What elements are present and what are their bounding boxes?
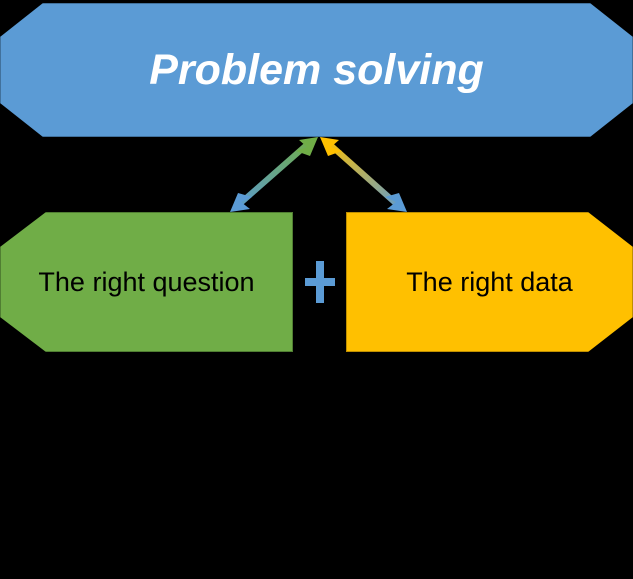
node-right-question[interactable]: The right question [0, 212, 293, 352]
right-connector-head-top [320, 137, 342, 156]
right-connector [320, 137, 407, 212]
left-connector [230, 137, 318, 212]
node-problem-solving-label: Problem solving [149, 49, 484, 92]
right-connector-head-bottom [385, 193, 407, 212]
plus-operator [293, 212, 346, 352]
node-right-data-label: The right data [406, 269, 573, 296]
plus-icon [305, 261, 335, 303]
node-right-question-label: The right question [38, 269, 254, 296]
left-connector-head-top [296, 137, 318, 156]
diagram-canvas: Problem solving [0, 0, 633, 579]
left-connector-head-bottom [230, 193, 252, 212]
node-right-data[interactable]: The right data [346, 212, 633, 352]
node-problem-solving[interactable]: Problem solving [0, 3, 633, 137]
